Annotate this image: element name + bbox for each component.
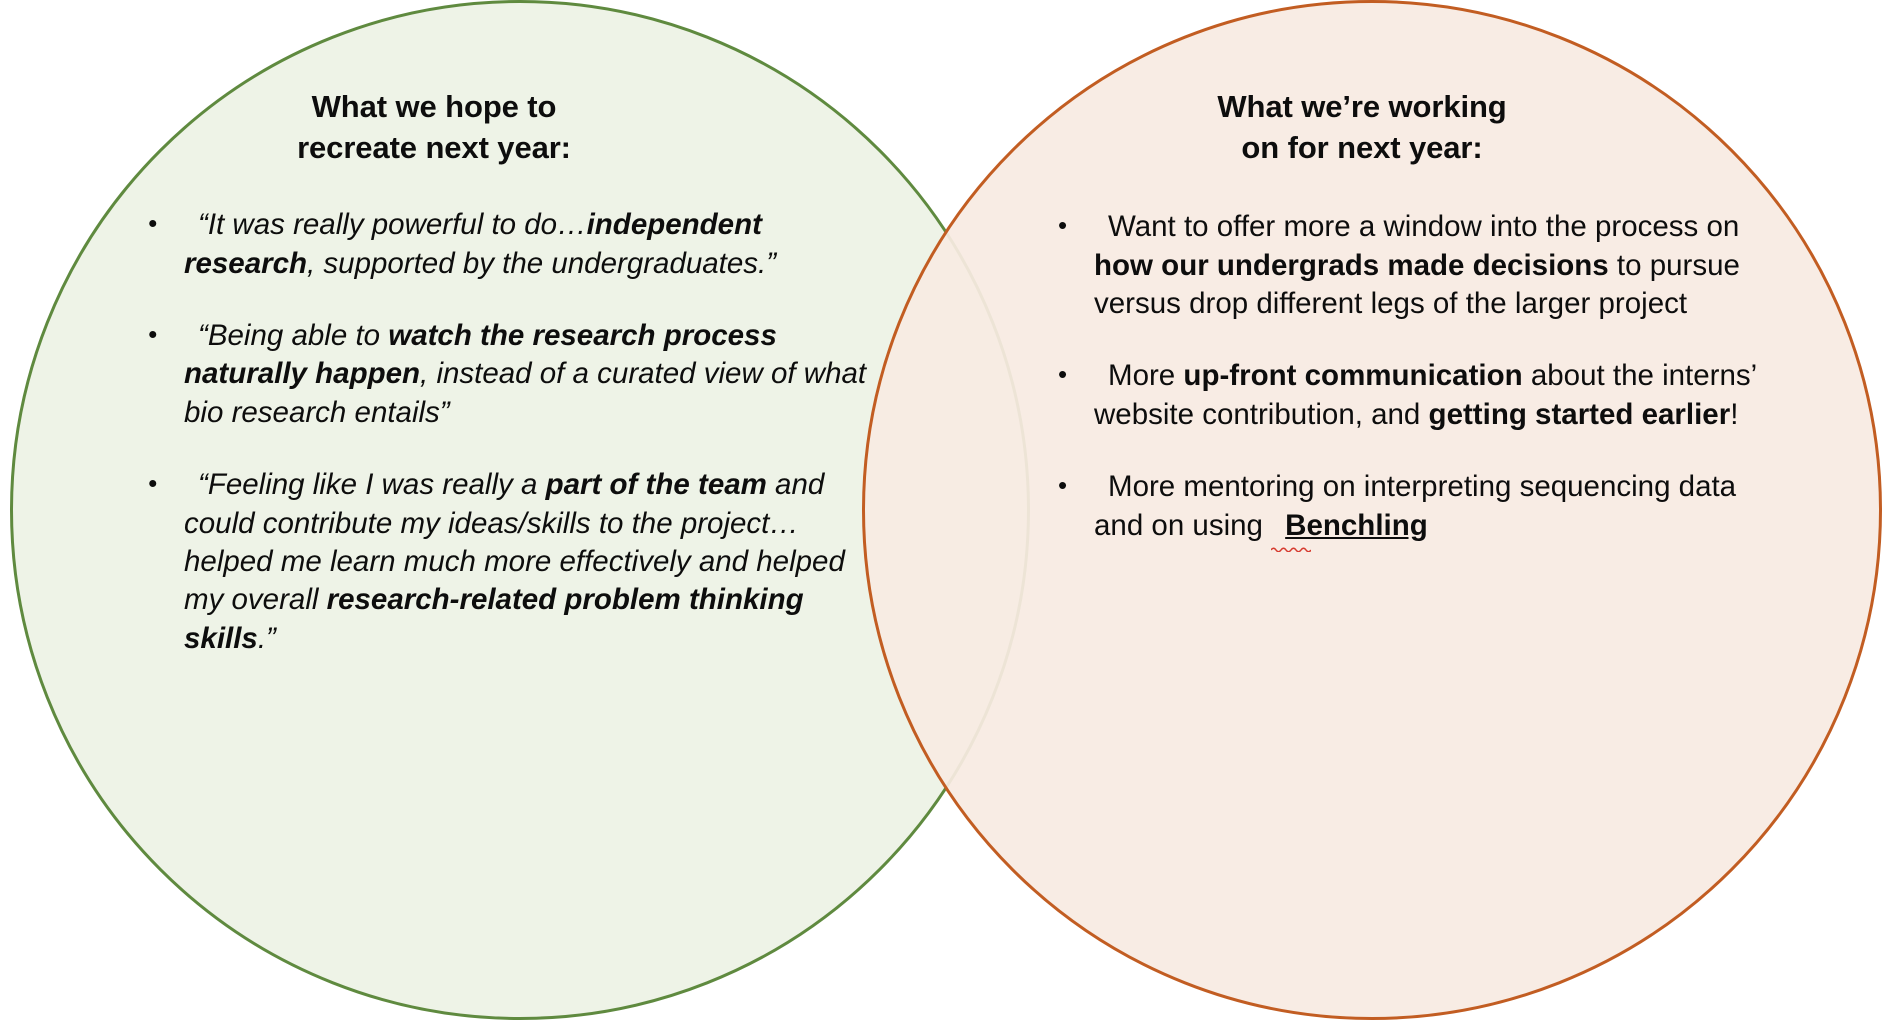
left-heading-line-1: What we hope to [312, 89, 557, 124]
bullet-text-segment: “Feeling like I was really a [198, 468, 546, 501]
left-circle-heading: What we hope to recreate next year: [154, 86, 714, 168]
right-circle-content: What we’re working on for next year: Wan… [1058, 86, 1758, 545]
bullet-text-segment: “It was really powerful to do… [198, 208, 587, 241]
bullet-item: “It was really powerful to do…independen… [148, 206, 868, 283]
bullet-text-segment: Benchling [1285, 509, 1428, 542]
right-bullet-list: Want to offer more a window into the pro… [1058, 208, 1758, 544]
venn-diagram-canvas: What we hope to recreate next year: “It … [0, 0, 1894, 1028]
bullet-text-emphasis: getting started earlier [1429, 398, 1731, 431]
left-circle-content: What we hope to recreate next year: “It … [148, 86, 868, 658]
bullet-text-segment: , supported by the undergraduates.” [307, 247, 776, 280]
bullet-item: More mentoring on interpreting sequencin… [1058, 468, 1758, 545]
bullet-item: “Being able to watch the research proces… [148, 317, 868, 432]
bullet-item: More up-front communication about the in… [1058, 357, 1758, 434]
bullet-text-segment: .” [258, 622, 276, 655]
bullet-text-segment: “Being able to [198, 319, 388, 352]
right-heading-line-1: What we’re working [1217, 89, 1506, 124]
bullet-text-segment: More [1108, 359, 1183, 392]
spellcheck-flagged-word: Benchling [1271, 507, 1428, 545]
bullet-item: “Feeling like I was really a part of the… [148, 466, 868, 658]
bullet-item: Want to offer more a window into the pro… [1058, 208, 1758, 323]
bullet-text-segment: ! [1730, 398, 1738, 431]
bullet-text-emphasis: up-front communication [1183, 359, 1522, 392]
right-circle-heading: What we’re working on for next year: [1052, 86, 1672, 168]
bullet-text-emphasis: part of the team [546, 468, 767, 501]
left-heading-line-2: recreate next year: [297, 130, 571, 165]
left-bullet-list: “It was really powerful to do…independen… [148, 206, 868, 657]
bullet-text-segment: Want to offer more a window into the pro… [1108, 210, 1739, 243]
right-heading-line-2: on for next year: [1241, 130, 1482, 165]
bullet-text-emphasis: how our undergrads made decisions [1094, 249, 1609, 282]
